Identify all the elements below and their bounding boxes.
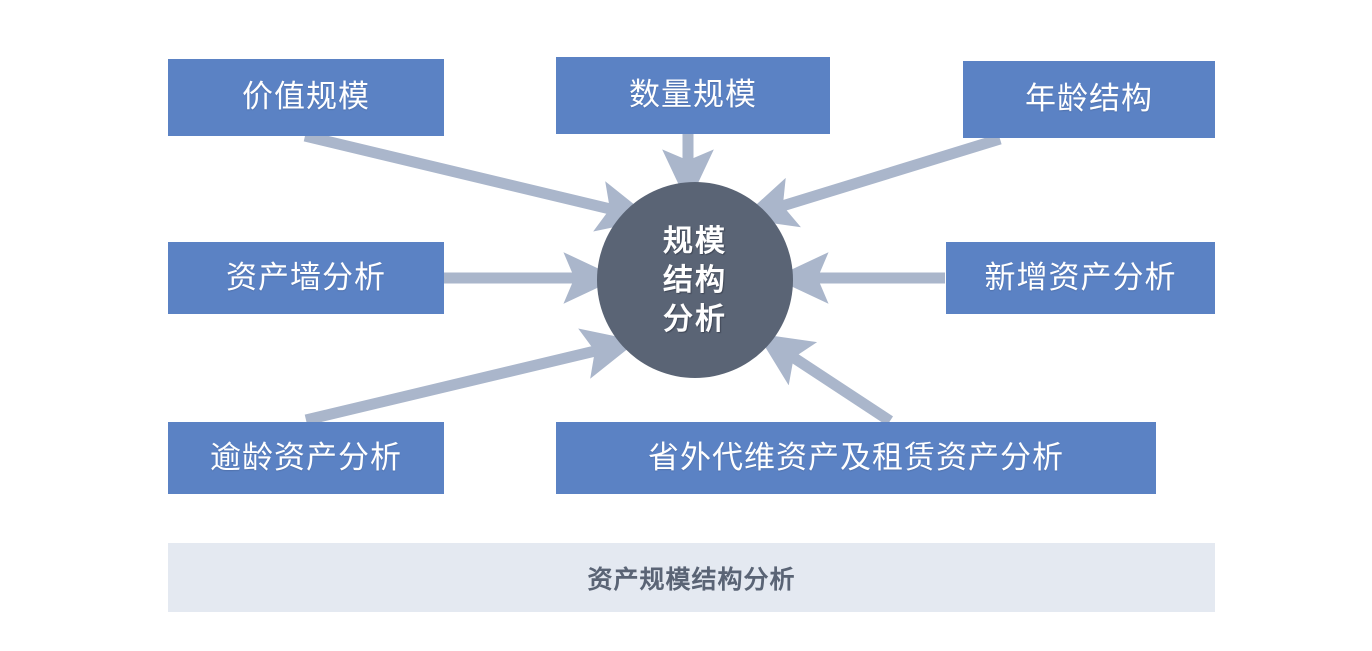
node-value-scale-label: 价值规模	[242, 80, 370, 114]
hub-line-3: 分析	[663, 300, 727, 339]
node-outprovince-lease-label: 省外代维资产及租赁资产分析	[648, 441, 1064, 475]
node-age-structure[interactable]: 年龄结构	[963, 61, 1215, 138]
diagram-title-bar: 资产规模结构分析	[168, 543, 1215, 612]
hub-circle[interactable]: 规模 结构 分析	[597, 182, 793, 378]
diagram-title: 资产规模结构分析	[587, 560, 795, 596]
node-new-asset[interactable]: 新增资产分析	[946, 242, 1215, 314]
arrow-overage-asset-to-hub	[306, 347, 612, 420]
diagram-canvas: 价值规模 数量规模 年龄结构 资产墙分析 新增资产分析 逾龄资产分析 省外代维资…	[0, 0, 1372, 651]
node-asset-wall-label: 资产墙分析	[226, 261, 386, 295]
node-overage-asset-label: 逾龄资产分析	[210, 441, 402, 475]
hub-line-1: 规模	[663, 222, 727, 261]
node-asset-wall[interactable]: 资产墙分析	[168, 242, 444, 314]
node-outprovince-lease[interactable]: 省外代维资产及租赁资产分析	[556, 422, 1156, 494]
arrow-outprovince-lease-to-hub	[779, 348, 890, 421]
node-new-asset-label: 新增资产分析	[985, 261, 1177, 295]
node-overage-asset[interactable]: 逾龄资产分析	[168, 422, 444, 494]
arrow-age-structure-to-hub	[766, 139, 1000, 211]
node-quantity-scale[interactable]: 数量规模	[556, 57, 830, 134]
node-quantity-scale-label: 数量规模	[629, 78, 757, 112]
node-value-scale[interactable]: 价值规模	[168, 59, 444, 136]
node-age-structure-label: 年龄结构	[1025, 82, 1153, 116]
arrow-value-scale-to-hub	[305, 136, 627, 213]
hub-line-2: 结构	[663, 261, 727, 300]
